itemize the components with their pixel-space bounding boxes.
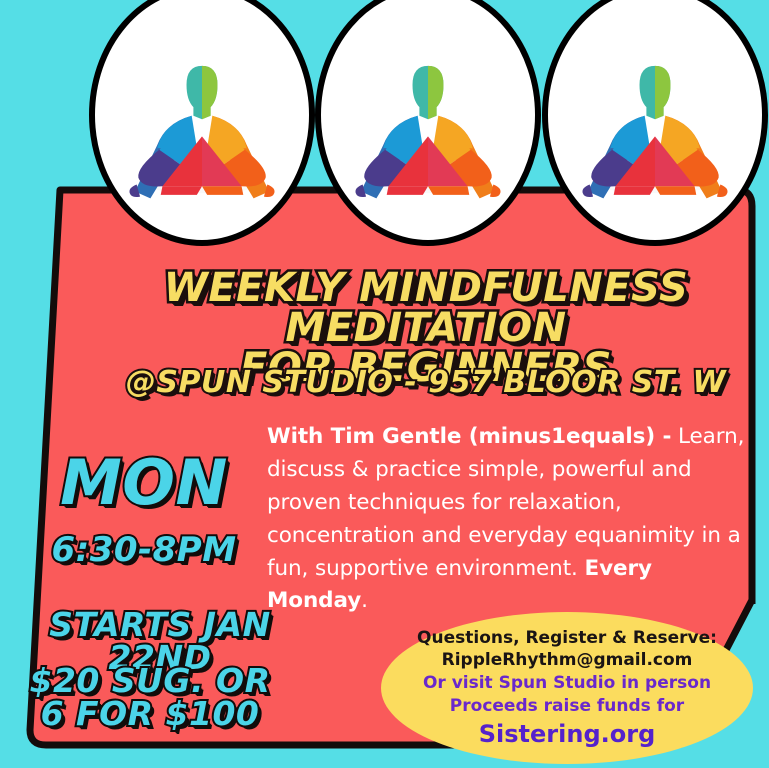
contact-proceeds-note: Proceeds raise funds for (450, 695, 684, 718)
schedule-day: MON (18, 452, 270, 514)
schedule-time: 6:30-8PM (18, 533, 270, 567)
poster-canvas: WEEKLY MINDFULNESS MEDITATION FOR BEGINN… (0, 0, 769, 768)
contact-visit-note: Or visit Spun Studio in person (423, 672, 711, 695)
description-tail: . (361, 588, 368, 613)
headline-line-1: WEEKLY MINDFULNESS MEDITATION (96, 268, 756, 348)
contact-email[interactable]: RippleRhythm@gmail.com (442, 649, 693, 672)
poster-content: WEEKLY MINDFULNESS MEDITATION FOR BEGINN… (0, 0, 769, 768)
description-lead: With Tim Gentle (minus1equals) - (267, 424, 671, 449)
price-block: $20 SUG. OR 6 FOR $100 (10, 664, 290, 730)
price-line-2: 6 FOR $100 (10, 697, 290, 730)
contact-callout-oval: Questions, Register & Reserve: RippleRhy… (381, 612, 753, 764)
contact-heading: Questions, Register & Reserve: (417, 627, 717, 650)
venue-address: @SPUN STUDIO - 957 BLOOR ST. W (96, 368, 756, 398)
description-paragraph: With Tim Gentle (minus1equals) - Learn, … (267, 421, 751, 618)
price-line-1: $20 SUG. OR (10, 664, 290, 697)
contact-beneficiary-link[interactable]: Sistering.org (479, 717, 656, 751)
